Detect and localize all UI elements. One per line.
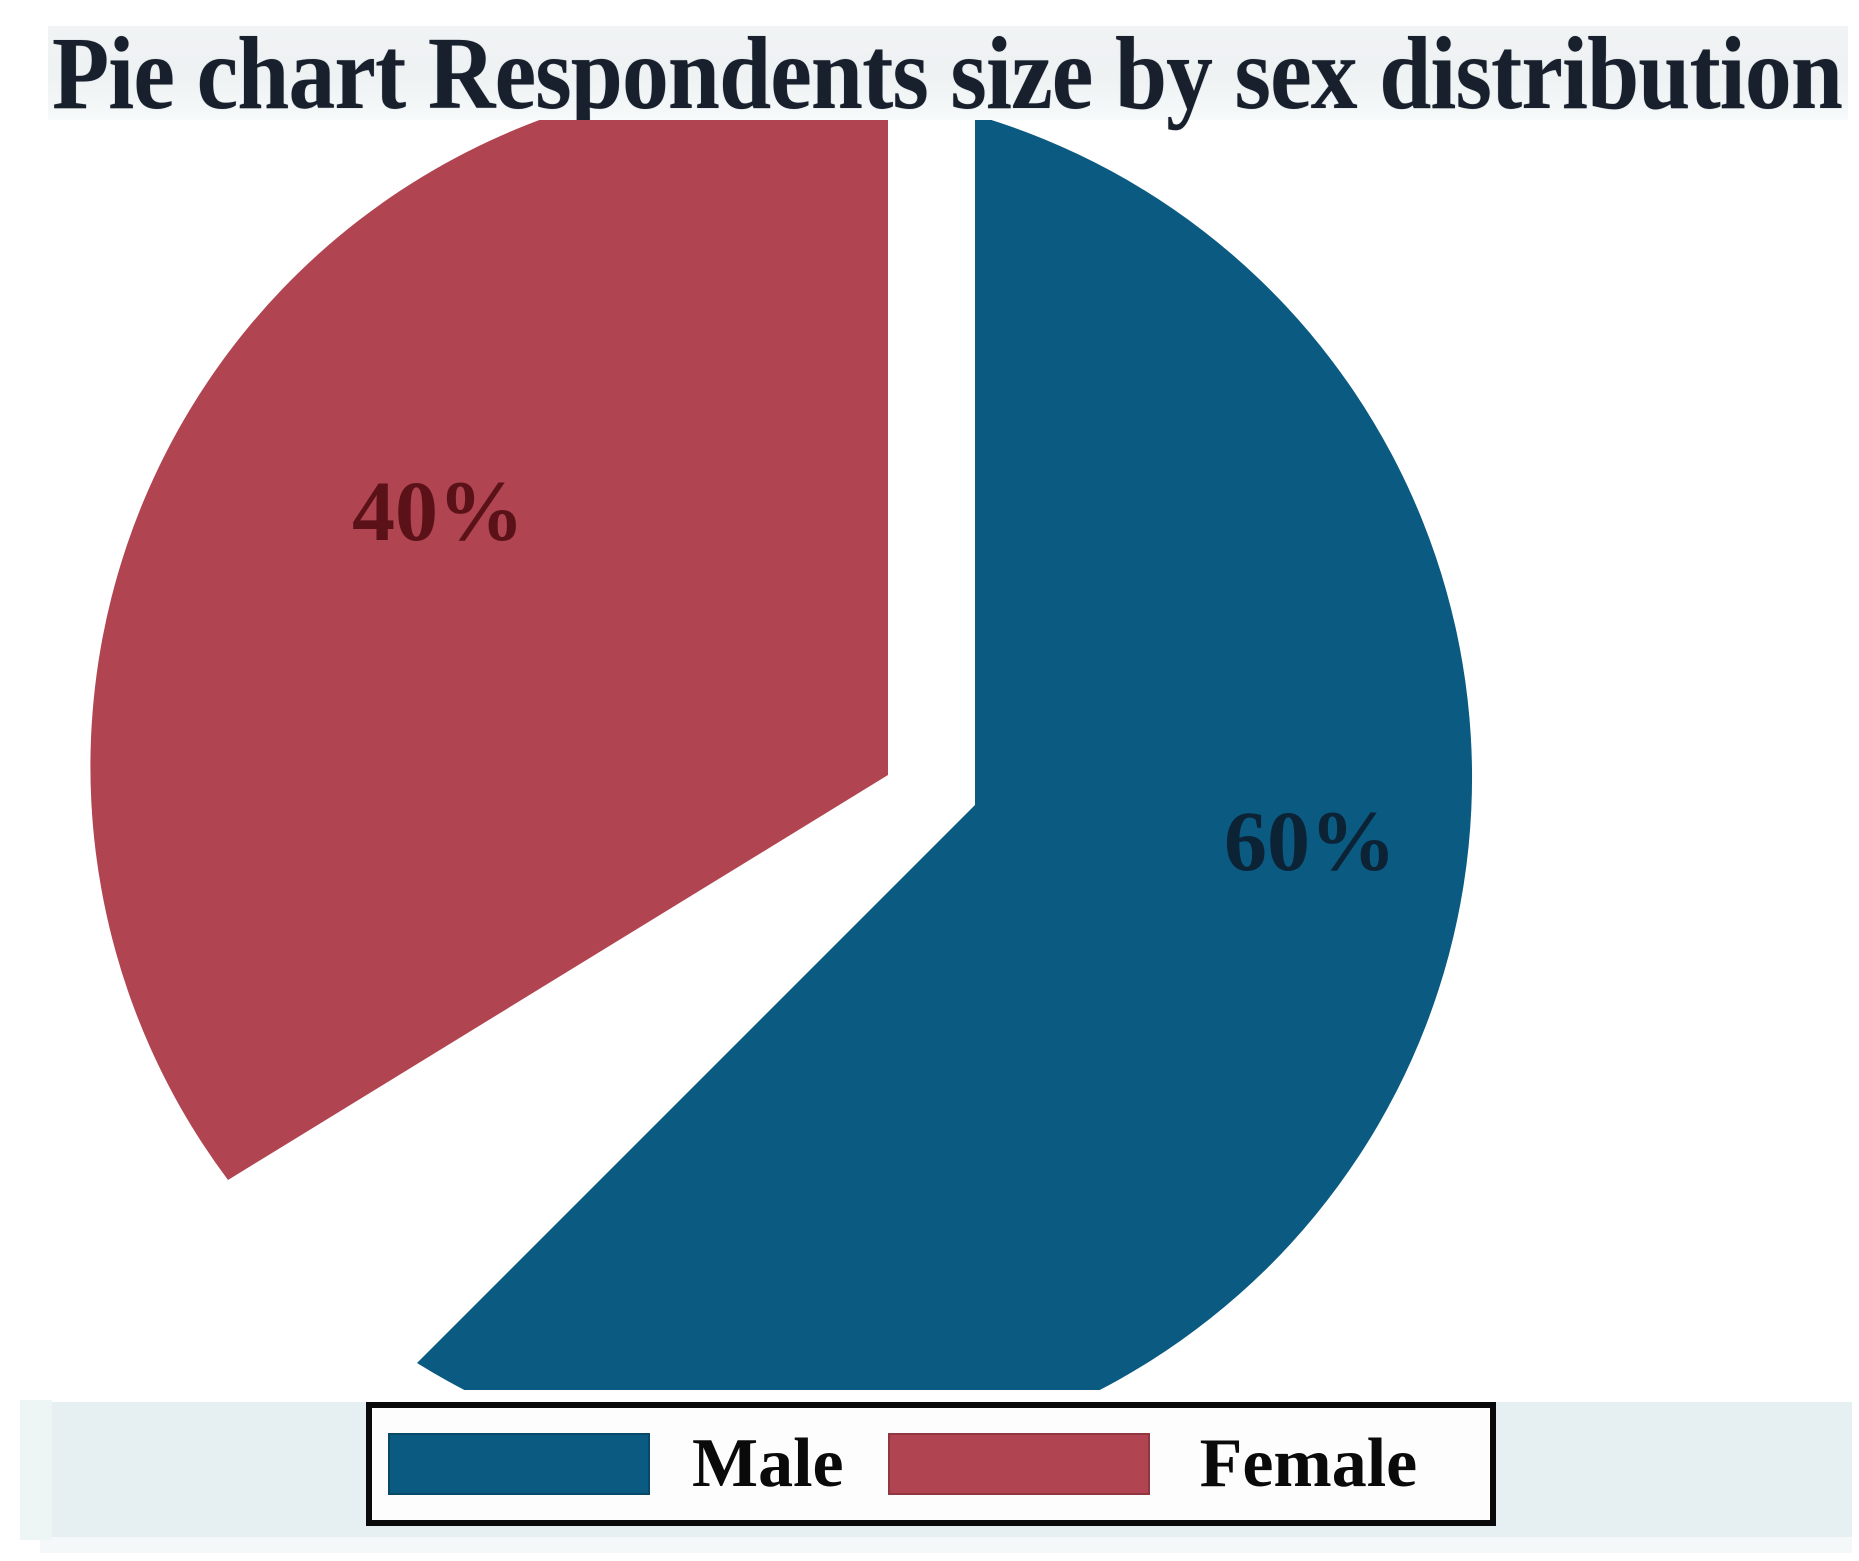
chart-legend: Male Female bbox=[366, 1402, 1496, 1526]
pie-chart-svg: 40% 60% bbox=[0, 120, 1859, 1390]
slice-label-female: 40% bbox=[352, 463, 524, 559]
left-edge-band bbox=[20, 1400, 52, 1540]
chart-page: Pie chart Respondents size by sex distri… bbox=[0, 0, 1859, 1561]
female-color-swatch bbox=[888, 1433, 1150, 1495]
male-color-swatch bbox=[388, 1433, 650, 1495]
footer-background-band bbox=[40, 1537, 1852, 1553]
legend-item-female[interactable]: Female bbox=[888, 1408, 1418, 1520]
legend-label-male: Male bbox=[692, 1429, 844, 1499]
page-title: Pie chart Respondents size by sex distri… bbox=[141, 22, 1753, 126]
slice-label-male: 60% bbox=[1224, 793, 1396, 889]
pie-chart-plot-area: 40% 60% bbox=[0, 120, 1859, 1390]
legend-label-female: Female bbox=[1200, 1429, 1418, 1499]
legend-item-male[interactable]: Male bbox=[388, 1408, 844, 1520]
